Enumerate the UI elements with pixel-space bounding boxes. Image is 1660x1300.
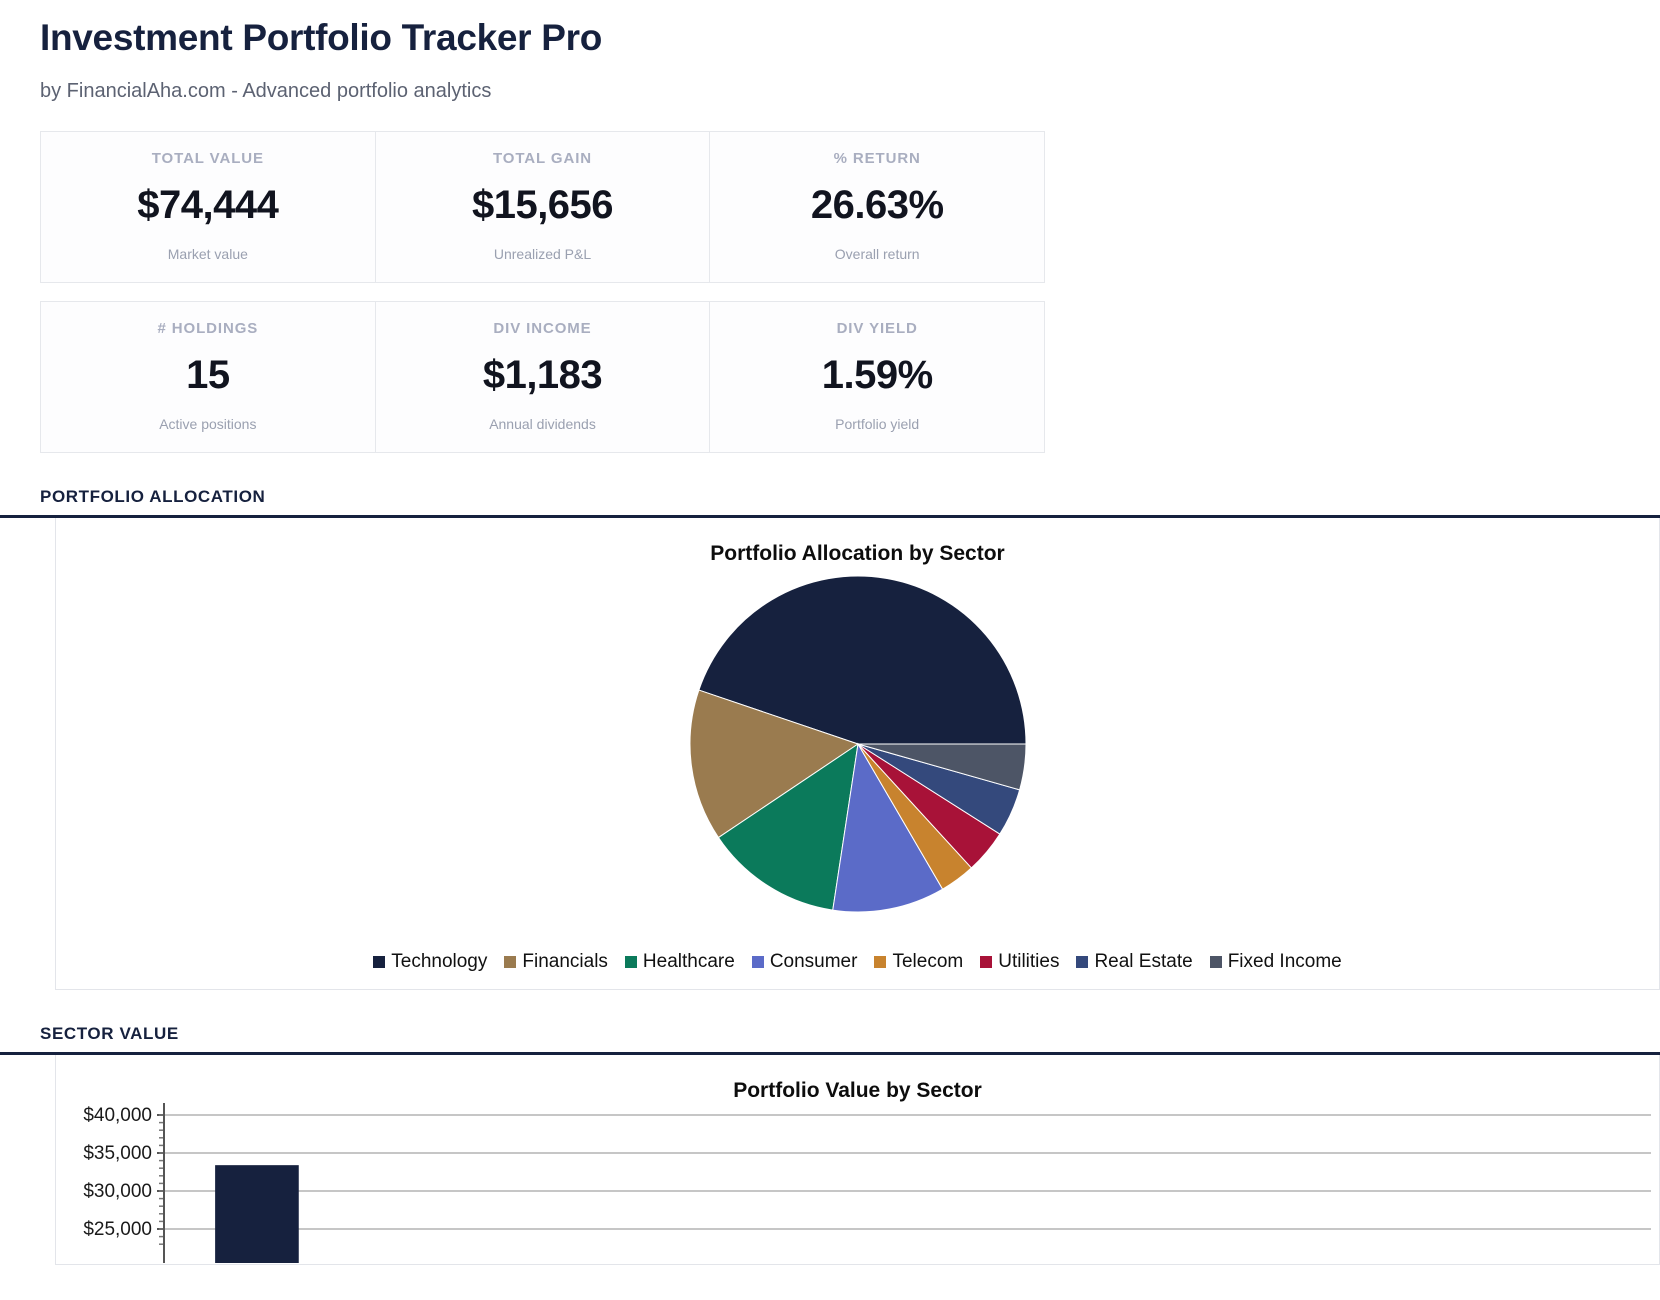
legend-label: Technology: [391, 951, 487, 973]
kpi-card-holdings: # HOLDINGS 15 Active positions: [41, 302, 376, 452]
section-header-sector-value: SECTOR VALUE: [40, 1024, 1620, 1044]
kpi-value: $1,183: [386, 353, 700, 398]
kpi-card-total-value: TOTAL VALUE $74,444 Market value: [41, 132, 376, 282]
legend-item: Healthcare: [625, 951, 735, 973]
legend-item: Consumer: [752, 951, 858, 973]
legend-item: Technology: [373, 951, 487, 973]
kpi-value: 26.63%: [720, 183, 1034, 228]
pie-chart-legend: TechnologyFinancialsHealthcareConsumerTe…: [56, 951, 1659, 989]
kpi-label: DIV INCOME: [386, 320, 700, 337]
kpi-card-div-income: DIV INCOME $1,183 Annual dividends: [376, 302, 711, 452]
y-axis-tick-label: $35,000: [83, 1143, 152, 1164]
y-axis-tick-label: $40,000: [83, 1105, 152, 1126]
legend-label: Real Estate: [1094, 951, 1192, 973]
kpi-sublabel: Unrealized P&L: [386, 246, 700, 262]
legend-swatch-icon: [625, 956, 637, 968]
kpi-sublabel: Annual dividends: [386, 416, 700, 432]
bar-chart-title: Portfolio Value by Sector: [56, 1055, 1659, 1103]
section-header-allocation: PORTFOLIO ALLOCATION: [40, 487, 1620, 507]
kpi-value: $74,444: [51, 183, 365, 228]
kpi-label: % RETURN: [720, 150, 1034, 167]
pie-chart: [688, 574, 1028, 914]
legend-item: Real Estate: [1076, 951, 1192, 973]
kpi-card-percent-return: % RETURN 26.63% Overall return: [710, 132, 1044, 282]
kpi-sublabel: Portfolio yield: [720, 416, 1034, 432]
kpi-value: 15: [51, 353, 365, 398]
kpi-sublabel: Active positions: [51, 416, 365, 432]
kpi-label: TOTAL GAIN: [386, 150, 700, 167]
bar: [215, 1165, 299, 1263]
pie-chart-area: [56, 566, 1659, 951]
legend-swatch-icon: [752, 956, 764, 968]
legend-swatch-icon: [980, 956, 992, 968]
kpi-sublabel: Overall return: [720, 246, 1034, 262]
legend-item: Fixed Income: [1210, 951, 1342, 973]
allocation-chart-panel: Portfolio Allocation by Sector Technolog…: [55, 518, 1660, 990]
portfolio-dashboard-page: Investment Portfolio Tracker Pro by Fina…: [0, 0, 1660, 1300]
legend-label: Consumer: [770, 951, 858, 973]
sector-value-chart-panel: Portfolio Value by Sector $40,000$35,000…: [55, 1055, 1660, 1265]
legend-swatch-icon: [504, 956, 516, 968]
legend-swatch-icon: [373, 956, 385, 968]
legend-swatch-icon: [1076, 956, 1088, 968]
kpi-value: $15,656: [386, 183, 700, 228]
page-title: Investment Portfolio Tracker Pro: [40, 0, 1620, 62]
y-axis-tick-label: $30,000: [83, 1181, 152, 1202]
bar-chart: $40,000$35,000$30,000$25,000: [56, 1103, 1660, 1263]
legend-label: Financials: [522, 951, 608, 973]
legend-item: Utilities: [980, 951, 1059, 973]
bar-chart-area: $40,000$35,000$30,000$25,000: [56, 1103, 1659, 1263]
legend-swatch-icon: [874, 956, 886, 968]
legend-label: Telecom: [892, 951, 963, 973]
page-subtitle: by FinancialAha.com - Advanced portfolio…: [40, 62, 1620, 103]
legend-label: Utilities: [998, 951, 1059, 973]
y-axis-tick-label: $25,000: [83, 1219, 152, 1240]
kpi-value: 1.59%: [720, 353, 1034, 398]
legend-item: Financials: [504, 951, 608, 973]
legend-item: Telecom: [874, 951, 963, 973]
kpi-label: # HOLDINGS: [51, 320, 365, 337]
kpi-row-primary: TOTAL VALUE $74,444 Market value TOTAL G…: [40, 131, 1045, 283]
kpi-card-div-yield: DIV YIELD 1.59% Portfolio yield: [710, 302, 1044, 452]
kpi-row-secondary: # HOLDINGS 15 Active positions DIV INCOM…: [40, 301, 1045, 453]
legend-label: Fixed Income: [1228, 951, 1342, 973]
kpi-card-total-gain: TOTAL GAIN $15,656 Unrealized P&L: [376, 132, 711, 282]
kpi-sublabel: Market value: [51, 246, 365, 262]
kpi-label: DIV YIELD: [720, 320, 1034, 337]
pie-chart-title: Portfolio Allocation by Sector: [56, 518, 1659, 566]
legend-swatch-icon: [1210, 956, 1222, 968]
kpi-label: TOTAL VALUE: [51, 150, 365, 167]
legend-label: Healthcare: [643, 951, 735, 973]
